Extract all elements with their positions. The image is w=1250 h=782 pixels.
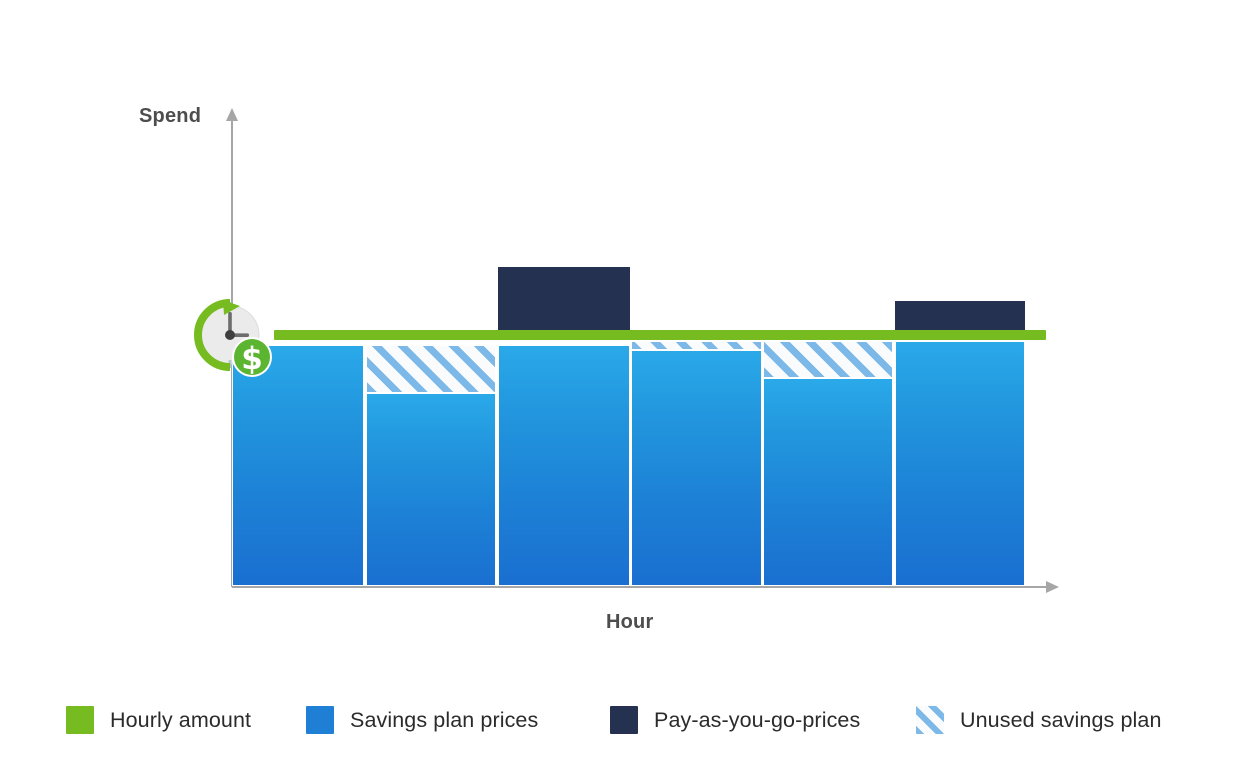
- unused-savings-plan-segment: [763, 341, 893, 378]
- y-axis-label: Spend: [139, 105, 201, 128]
- legend-swatch-icon: [306, 706, 334, 734]
- legend-item-label: Pay-as-you-go-prices: [654, 708, 860, 733]
- unused-savings-plan-segment: [366, 345, 496, 393]
- savings-plan-segment: [895, 341, 1025, 586]
- legend-item-pay-as-you-go-prices[interactable]: Pay-as-you-go-prices: [610, 703, 860, 737]
- legend-item-label: Hourly amount: [110, 708, 251, 733]
- x-axis-line: [232, 586, 1051, 588]
- bar-column: [763, 120, 893, 586]
- bar-column: [895, 120, 1025, 586]
- hourly-amount-threshold-line: [274, 330, 1046, 340]
- plot-area: [232, 120, 1025, 586]
- legend-item-hourly-amount[interactable]: Hourly amount: [66, 703, 251, 737]
- savings-plan-segment: [498, 345, 630, 586]
- bar-column: [631, 120, 762, 586]
- legend: Hourly amount Savings plan prices Pay-as…: [66, 703, 1226, 739]
- chart-canvas: Spend Hour: [0, 0, 1250, 782]
- pay-as-you-go-segment: [498, 267, 630, 331]
- legend-swatch-icon: [916, 706, 944, 734]
- savings-plan-segment: [631, 350, 762, 586]
- savings-plan-segment: [366, 393, 496, 586]
- savings-plan-segment: [232, 345, 364, 586]
- unused-savings-plan-segment: [631, 341, 762, 350]
- clock-dollar-icon: $: [190, 299, 276, 381]
- legend-swatch-icon: [66, 706, 94, 734]
- svg-text:$: $: [241, 341, 263, 377]
- legend-item-savings-plan-prices[interactable]: Savings plan prices: [306, 703, 538, 737]
- x-axis-label: Hour: [606, 611, 653, 634]
- legend-item-unused-savings-plan[interactable]: Unused savings plan: [916, 703, 1162, 737]
- arrow-right-icon: [1046, 581, 1059, 593]
- legend-item-label: Unused savings plan: [960, 708, 1162, 733]
- pay-as-you-go-segment: [895, 301, 1025, 331]
- savings-plan-segment: [763, 378, 893, 586]
- legend-item-label: Savings plan prices: [350, 708, 538, 733]
- bar-column: [366, 120, 496, 586]
- legend-swatch-icon: [610, 706, 638, 734]
- bar-column: [498, 120, 630, 586]
